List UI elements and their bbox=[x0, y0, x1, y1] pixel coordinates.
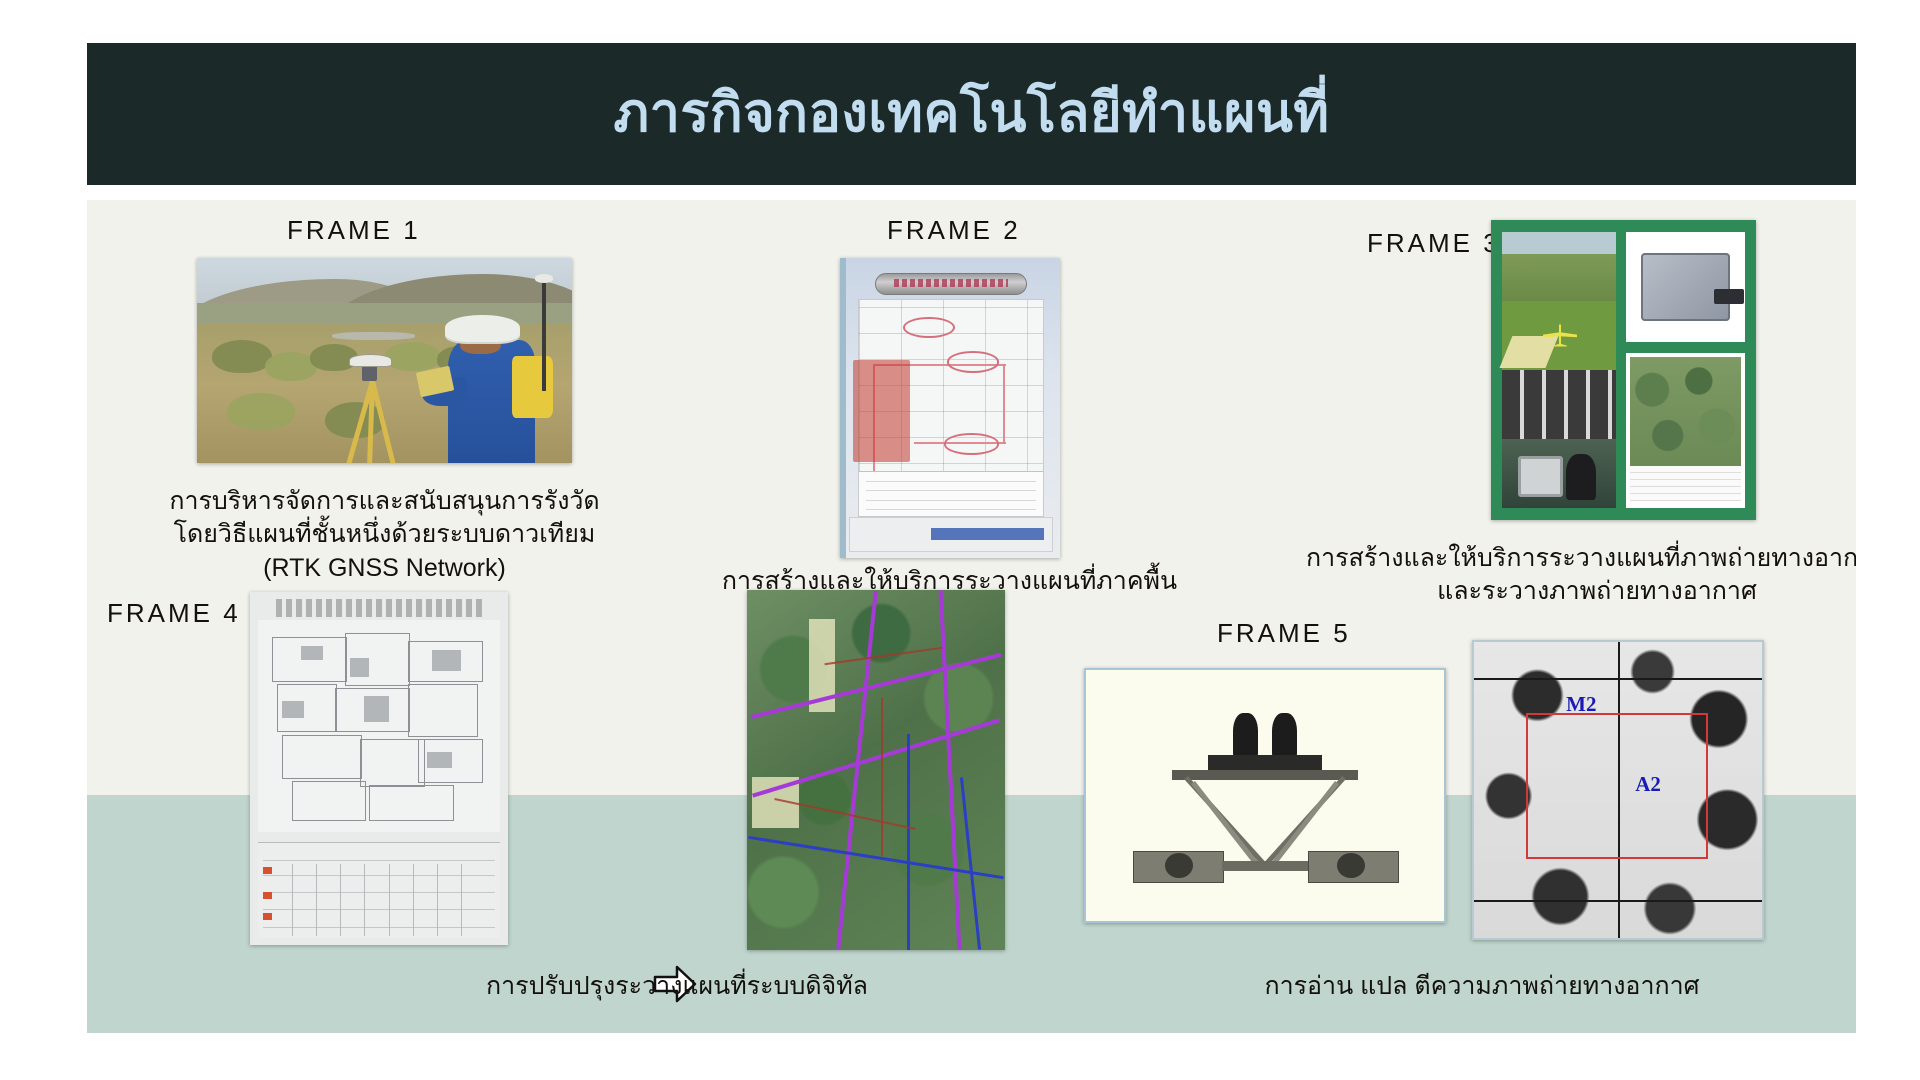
content-layer: FRAME 1 bbox=[87, 200, 1856, 1033]
frame-1-image bbox=[197, 258, 572, 463]
frame-4-after-image bbox=[747, 590, 1005, 950]
frame-2-label: FRAME 2 bbox=[887, 215, 1021, 246]
frame-5-label-a2: A2 bbox=[1635, 772, 1661, 797]
slide-root: ภารกิจกองเทคโนโลยีทำแผนที่ FRAME 1 bbox=[0, 0, 1920, 1080]
frame-3-image bbox=[1491, 220, 1756, 520]
frame-4-before-image bbox=[250, 592, 508, 945]
frame-5-label: FRAME 5 bbox=[1217, 618, 1351, 649]
frame-1-label: FRAME 1 bbox=[287, 215, 421, 246]
frame-2-image bbox=[840, 258, 1060, 558]
frame-4-label: FRAME 4 bbox=[107, 598, 241, 629]
frame-5-right-image: M2 A2 bbox=[1472, 640, 1764, 940]
frame-5-red-highlight-box bbox=[1526, 713, 1709, 859]
frame-3-caption: การสร้างและให้บริการระวางแผนที่ภาพถ่ายทา… bbox=[1237, 542, 1856, 609]
frame-5-caption: การอ่าน แปล ตีความภาพถ่ายทางอากาศ bbox=[1152, 970, 1812, 1003]
frame-4-caption: การปรับปรุงระวางแผนที่ระบบดิจิทัล bbox=[387, 970, 967, 1003]
frame-1-caption: การบริหารจัดการและสนับสนุนการรังวัด โดยว… bbox=[157, 485, 612, 585]
slide-content-panel: FRAME 1 bbox=[87, 200, 1856, 1033]
frame-5-label-m2: M2 bbox=[1566, 692, 1596, 717]
frame-5-left-image bbox=[1084, 668, 1446, 923]
slide-title-bar: ภารกิจกองเทคโนโลยีทำแผนที่ bbox=[87, 43, 1856, 185]
frame-3-label: FRAME 3 bbox=[1367, 228, 1501, 259]
page-title: ภารกิจกองเทคโนโลยีทำแผนที่ bbox=[614, 84, 1330, 143]
